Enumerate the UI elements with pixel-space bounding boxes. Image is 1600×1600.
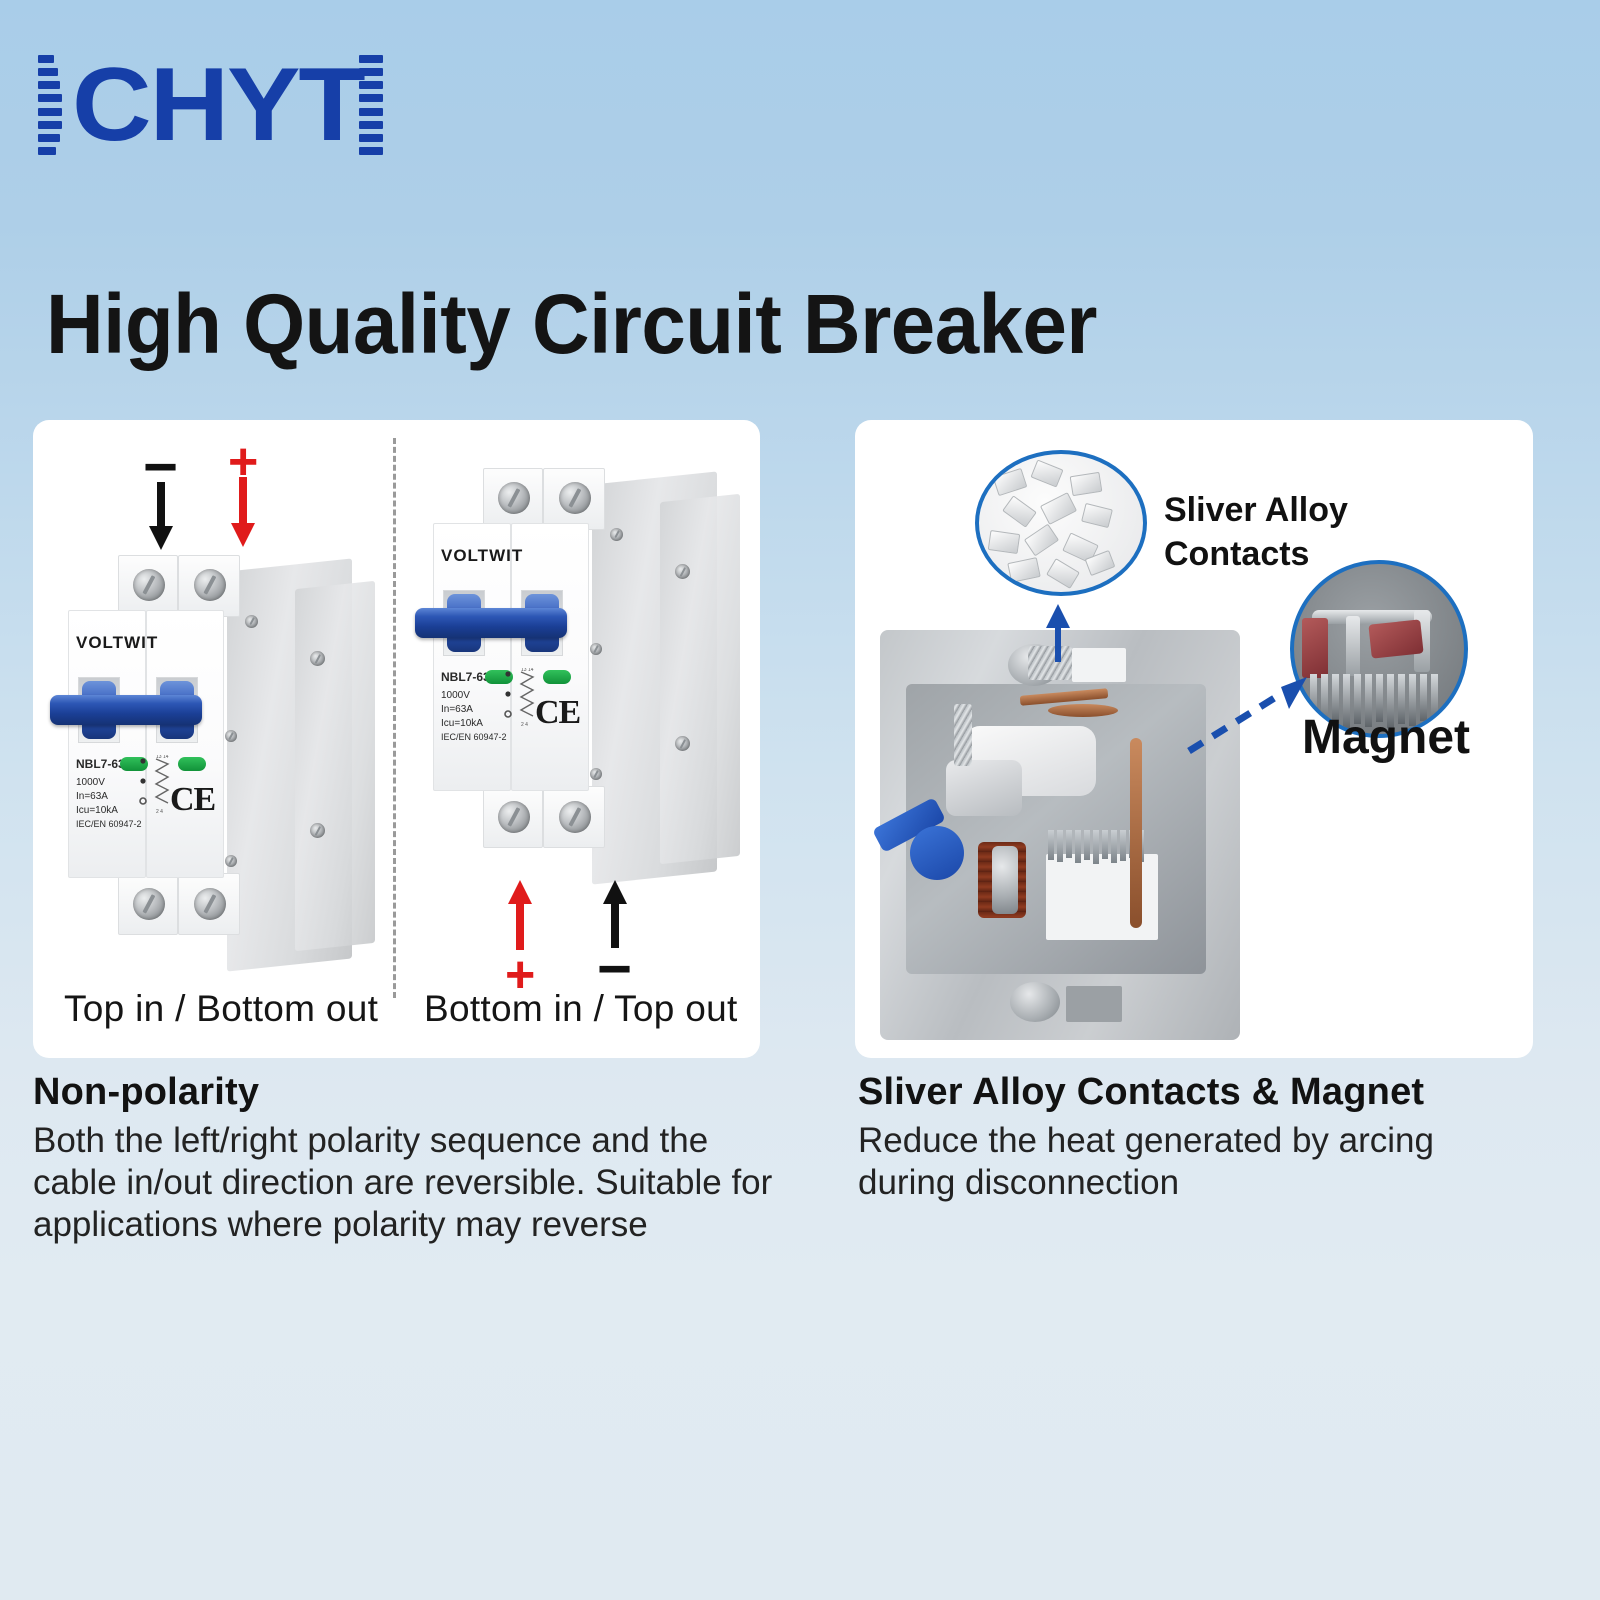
flow-mark-negative-bottom: − — [597, 880, 632, 984]
led-indicator-2 — [543, 670, 571, 684]
breaker-current-text: In=63A — [76, 791, 108, 804]
breaker-voltage-text: 1000V — [441, 690, 470, 703]
wiring-schematic-icon: 13 14 2 4 — [503, 668, 545, 735]
arrow-down-red — [230, 477, 256, 547]
breaker-side-body-2 — [660, 494, 740, 864]
terminal-screw-bottom-left — [498, 801, 530, 833]
led-indicator-2 — [178, 757, 206, 771]
lower-solenoid — [1010, 982, 1060, 1022]
feature-title: Sliver Alloy Contacts & Magnet — [858, 1068, 1538, 1116]
page-title: High Quality Circuit Breaker — [46, 278, 1376, 370]
feature-body: Both the left/right polarity sequence an… — [33, 1120, 793, 1246]
breaker-standard-text: IEC/EN 60947-2 — [76, 819, 142, 830]
logo-wordmark: CHYT — [72, 55, 364, 155]
sign-positive: + — [505, 960, 535, 990]
terminal-screw-top-right — [194, 569, 226, 601]
side-screw-4 — [590, 643, 602, 655]
breaker-standard-text: IEC/EN 60947-2 — [441, 732, 507, 743]
mechanism-linkage — [946, 760, 1022, 816]
breaker-capacity-text: Icu=10kA — [76, 805, 118, 818]
side-screw-3 — [245, 615, 258, 628]
toggle-lever[interactable] — [415, 608, 567, 638]
terminal-screw-top-right — [559, 482, 591, 514]
callout-line-1: Sliver Alloy — [1164, 491, 1348, 529]
svg-text:13 14: 13 14 — [156, 755, 169, 760]
caption-top-in-bottom-out: Top in / Bottom out — [64, 988, 378, 1030]
panel-divider — [393, 438, 396, 998]
breaker-unit-bottom-in-top-out: VOLTWIT NBL7-63 1000V In=63A Icu=10kA IE… — [425, 468, 745, 888]
flow-mark-positive-top: + — [228, 447, 258, 547]
side-screw-2 — [675, 736, 690, 751]
terminal-screw-bottom-left — [133, 888, 165, 920]
sign-negative: − — [143, 452, 178, 482]
svg-text:13 14: 13 14 — [521, 668, 534, 673]
wiring-schematic-icon: 13 14 2 4 — [138, 755, 180, 822]
terminal-screw-bottom-right — [559, 801, 591, 833]
breaker-model-text: NBL7-63 — [76, 757, 125, 772]
brand-logo: CHYT — [38, 52, 383, 158]
side-screw-5 — [225, 855, 237, 867]
copper-braid — [1048, 704, 1118, 717]
solenoid-plunger — [992, 846, 1018, 914]
inset-sliver-alloy-contacts — [975, 450, 1147, 596]
breaker-brand-text: VOLTWIT — [76, 633, 158, 653]
side-screw-1 — [675, 564, 690, 579]
blue-handle-pivot — [910, 826, 964, 880]
breaker-voltage-text: 1000V — [76, 777, 105, 790]
copper-conductor-right — [1130, 738, 1142, 928]
feature-body: Reduce the heat generated by arcing duri… — [858, 1120, 1538, 1204]
arrow-down-black — [148, 482, 174, 550]
sign-positive: + — [228, 447, 258, 477]
breaker-model-text: NBL7-63 — [441, 670, 490, 685]
side-screw-5 — [590, 768, 602, 780]
breaker-side-body-2 — [295, 581, 375, 951]
pointer-arrow-contacts — [1040, 596, 1080, 669]
flow-mark-positive-bottom: + — [505, 880, 535, 990]
terminal-screw-top-left — [133, 569, 165, 601]
side-screw-1 — [310, 651, 325, 666]
svg-text:2 4: 2 4 — [156, 809, 163, 815]
logo-stripe-bars-left — [38, 55, 62, 155]
sign-negative: − — [597, 954, 632, 984]
callout-label-magnet: Magnet — [1302, 710, 1470, 765]
terminal-screw-top-left — [498, 482, 530, 514]
breaker-capacity-text: Icu=10kA — [441, 718, 483, 731]
feature-block-non-polarity: Non-polarity Both the left/right polarit… — [33, 1068, 793, 1246]
feature-title: Non-polarity — [33, 1068, 793, 1116]
flow-mark-negative-top: − — [143, 452, 178, 550]
caption-bottom-in-top-out: Bottom in / Top out — [424, 988, 738, 1030]
terminal-screw-bottom-right — [194, 888, 226, 920]
arrow-up-red — [507, 880, 533, 950]
lower-terminal-block — [1066, 986, 1122, 1022]
breaker-unit-top-in-bottom-out: VOLTWIT NBL7-63 1000V In=63A Icu=10kA IE… — [60, 555, 380, 975]
svg-text:2 4: 2 4 — [521, 722, 528, 728]
trip-spring — [954, 704, 972, 766]
side-screw-4 — [225, 730, 237, 742]
feature-block-contacts-magnet: Sliver Alloy Contacts & Magnet Reduce th… — [858, 1068, 1538, 1204]
arc-chute-plate-top — [1072, 648, 1126, 682]
pointer-arrow-magnet — [1185, 665, 1325, 760]
toggle-lever[interactable] — [50, 695, 202, 725]
side-screw-2 — [310, 823, 325, 838]
callout-label-sliver-alloy-contacts: Sliver Alloy Contacts — [1164, 488, 1364, 576]
breaker-current-text: In=63A — [441, 704, 473, 717]
side-screw-3 — [610, 528, 623, 541]
callout-line-2: Contacts — [1164, 535, 1309, 573]
breaker-brand-text: VOLTWIT — [441, 546, 523, 566]
